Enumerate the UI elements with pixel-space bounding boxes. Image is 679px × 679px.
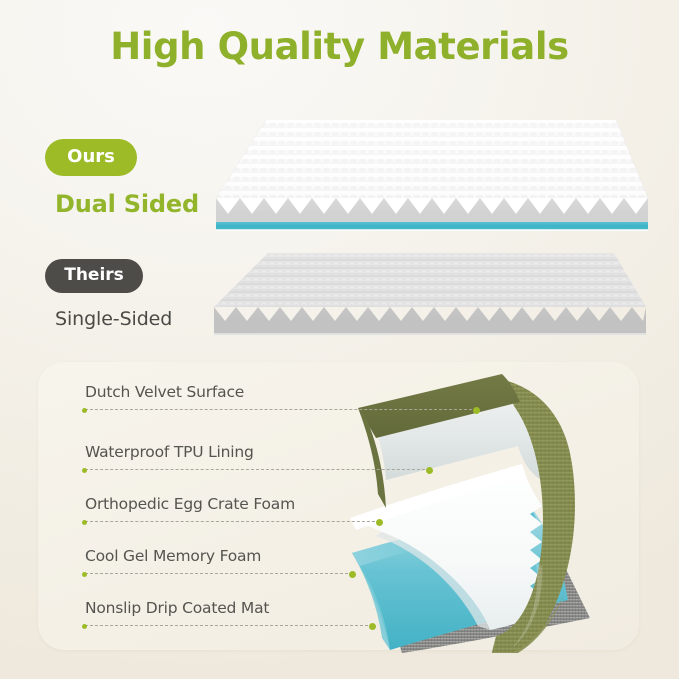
layer-cutaway-illustration — [290, 368, 650, 653]
leader-dot-start — [82, 572, 87, 577]
leader-dot-end — [349, 571, 356, 578]
feature-label: Cool Gel Memory Foam — [85, 547, 261, 565]
leader-dot-start — [82, 520, 87, 525]
leader-line — [85, 625, 373, 626]
feature-label: Orthopedic Egg Crate Foam — [85, 495, 295, 513]
leader-line — [85, 409, 477, 410]
leader-dot-start — [82, 624, 87, 629]
leader-dot-start — [82, 408, 87, 413]
leader-dot-end — [473, 407, 480, 414]
leader-dot-end — [369, 623, 376, 630]
badge-theirs: Theirs — [45, 259, 143, 293]
leader-dot-end — [376, 519, 383, 526]
leader-line — [85, 573, 353, 574]
infographic-poster: High Quality Materials — [0, 0, 679, 679]
feature-label: Waterproof TPU Lining — [85, 443, 254, 461]
page-title: High Quality Materials — [0, 25, 679, 68]
caption-single-sided: Single-Sided — [55, 308, 172, 330]
feature-label: Dutch Velvet Surface — [85, 383, 244, 401]
caption-dual-sided: Dual Sided — [55, 190, 199, 218]
leader-dot-end — [426, 467, 433, 474]
leader-line — [85, 521, 380, 522]
badge-ours: Ours — [45, 139, 137, 176]
feature-label: Nonslip Drip Coated Mat — [85, 599, 269, 617]
leader-dot-start — [82, 468, 87, 473]
leader-line — [85, 469, 430, 470]
ours-mattress-illustration — [196, 110, 656, 235]
theirs-mattress-illustration — [196, 245, 656, 350]
layers-feature-card: Dutch Velvet Surface Waterproof TPU Lini… — [38, 362, 639, 650]
